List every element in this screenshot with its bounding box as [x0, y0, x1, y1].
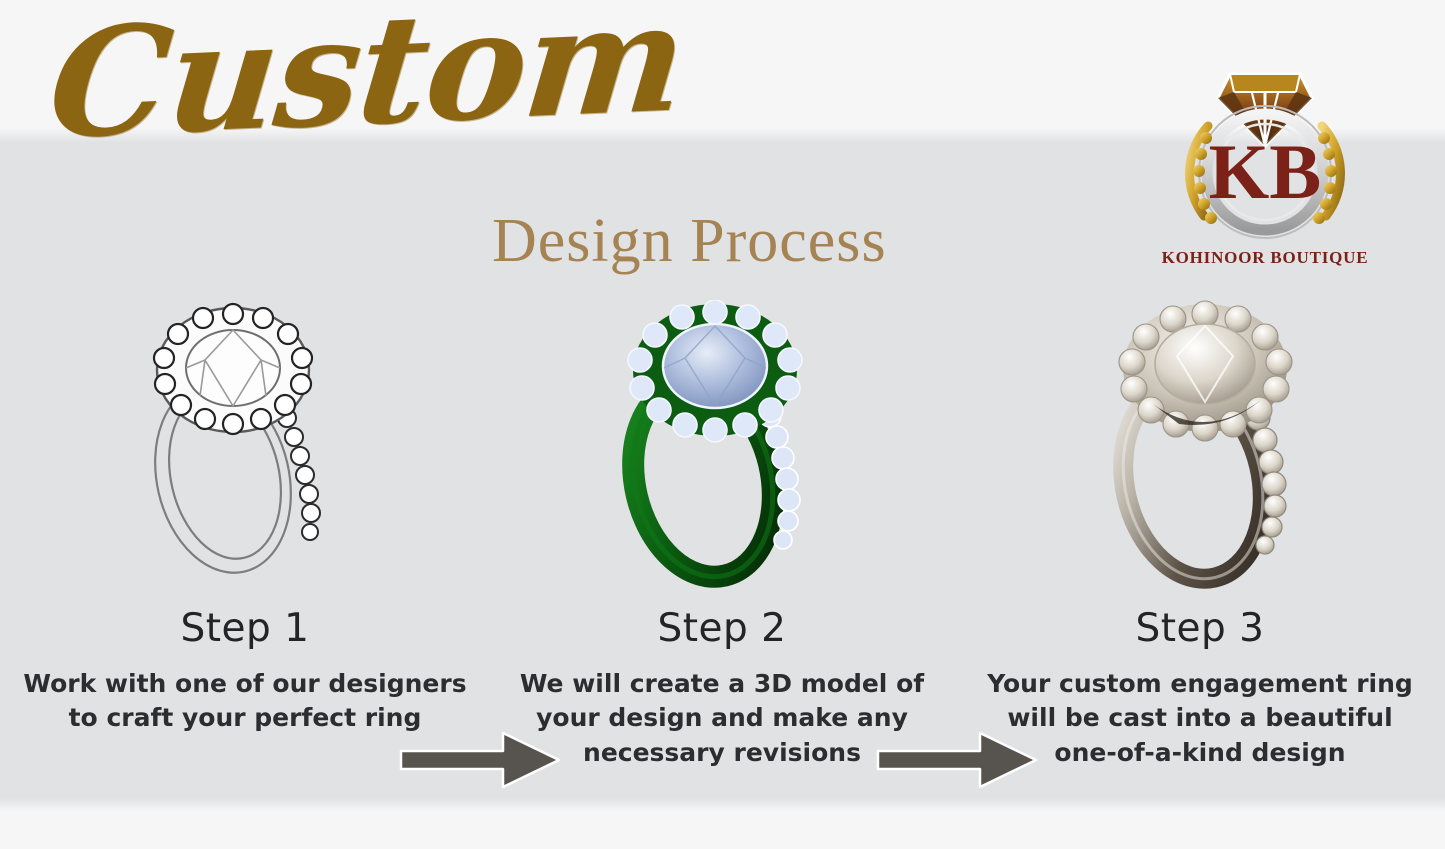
ring-3d-cad-model	[585, 300, 865, 590]
custom-design-process-banner: Custom Design Process	[0, 0, 1445, 849]
step-3-description: Your custom engagement ring will be cast…	[965, 667, 1435, 771]
step-caption-3: Step 3 Your custom engagement ring will …	[965, 608, 1435, 770]
logo-monogram-text: KB	[1209, 128, 1322, 215]
step-2-heading: Step 2	[487, 608, 957, 651]
sketch-pave-stones	[278, 409, 320, 540]
logo-caption: KOHINOOR BOUTIQUE	[1140, 248, 1390, 268]
background-fade-lower	[0, 798, 1445, 812]
step-1-heading: Step 1	[10, 608, 480, 651]
ring-sketch-line-drawing	[105, 300, 385, 590]
ring-finished-photograph	[1075, 300, 1355, 590]
brand-logo-mark: KB	[1140, 52, 1390, 248]
page-title-script: Custom	[37, 0, 702, 230]
background-band-bottom	[0, 812, 1445, 849]
step-caption-2: Step 2 We will create a 3D model of your…	[487, 608, 957, 770]
step-2-description: We will create a 3D model of your design…	[487, 667, 957, 771]
brand-logo: KB KOHINOOR BOUTIQUE	[1140, 52, 1390, 284]
step-3-heading: Step 3	[965, 608, 1435, 651]
process-illustration-row	[0, 300, 1445, 590]
step-caption-1: Step 1 Work with one of our designers to…	[10, 608, 480, 736]
page-title-serif: Design Process	[492, 206, 887, 277]
step-1-description: Work with one of our designers to craft …	[10, 667, 480, 736]
